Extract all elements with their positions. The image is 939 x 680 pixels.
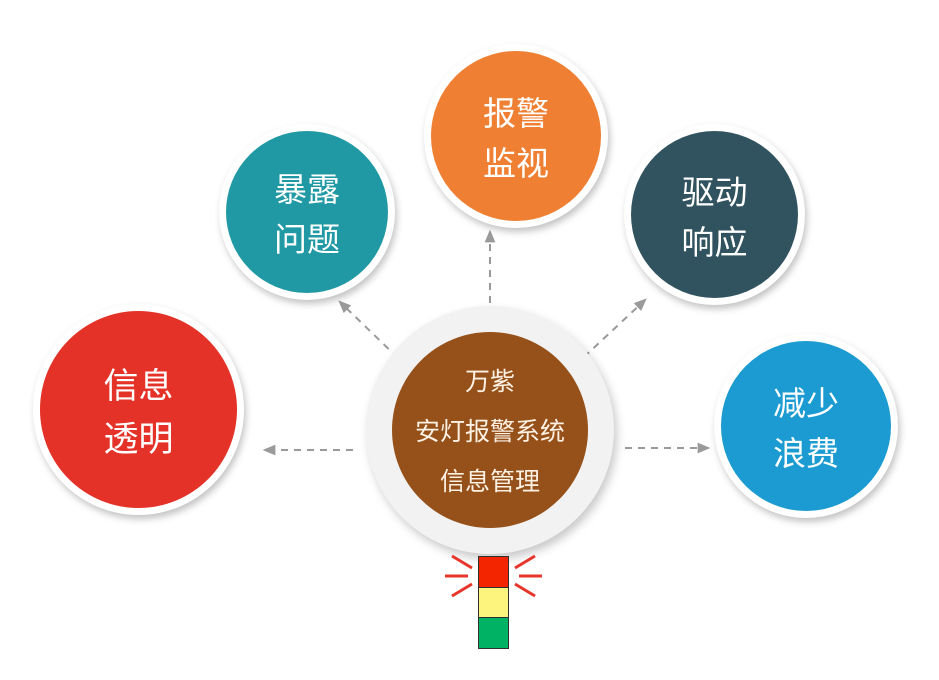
node-information-transparency-line2: 透明 — [103, 411, 173, 462]
node-drive-response[interactable]: 驱动 响应 — [631, 131, 798, 298]
center-hub-line2: 安灯报警系统 — [415, 412, 565, 448]
node-expose-problem-line2: 问题 — [274, 213, 340, 261]
node-information-transparency-line1: 信息 — [103, 358, 173, 409]
center-hub-line1: 万紫 — [465, 362, 515, 398]
node-drive-response-line2: 响应 — [682, 216, 748, 264]
andon-light-tower — [432, 534, 552, 654]
lamp-yellow-light — [479, 588, 508, 619]
node-information-transparency[interactable]: 信息 透明 — [40, 311, 237, 508]
connector-hub-to-expose-problem — [340, 302, 398, 358]
lamp-red-light — [479, 557, 508, 588]
lamp-green-light — [479, 618, 508, 648]
node-drive-response-line1: 驱动 — [682, 166, 748, 214]
node-reduce-waste-line2: 浪费 — [773, 427, 839, 475]
connector-hub-to-drive-response — [584, 300, 645, 357]
node-alarm-monitor[interactable]: 报警 监视 — [431, 51, 601, 221]
center-hub[interactable]: 万紫 安灯报警系统 信息管理 — [392, 332, 588, 528]
lamp-stack — [478, 556, 509, 649]
diagram-canvas: 万紫 安灯报警系统 信息管理 报警 监视 暴露 问题 驱动 响应 信息 透明 减… — [0, 0, 939, 680]
node-reduce-waste-line1: 减少 — [773, 377, 839, 425]
center-hub-line3: 信息管理 — [440, 462, 540, 498]
node-alarm-monitor-line2: 监视 — [483, 137, 549, 185]
node-expose-problem-line1: 暴露 — [274, 163, 340, 211]
node-expose-problem[interactable]: 暴露 问题 — [226, 131, 388, 293]
node-alarm-monitor-line1: 报警 — [483, 87, 549, 135]
node-reduce-waste[interactable]: 减少 浪费 — [721, 341, 891, 511]
